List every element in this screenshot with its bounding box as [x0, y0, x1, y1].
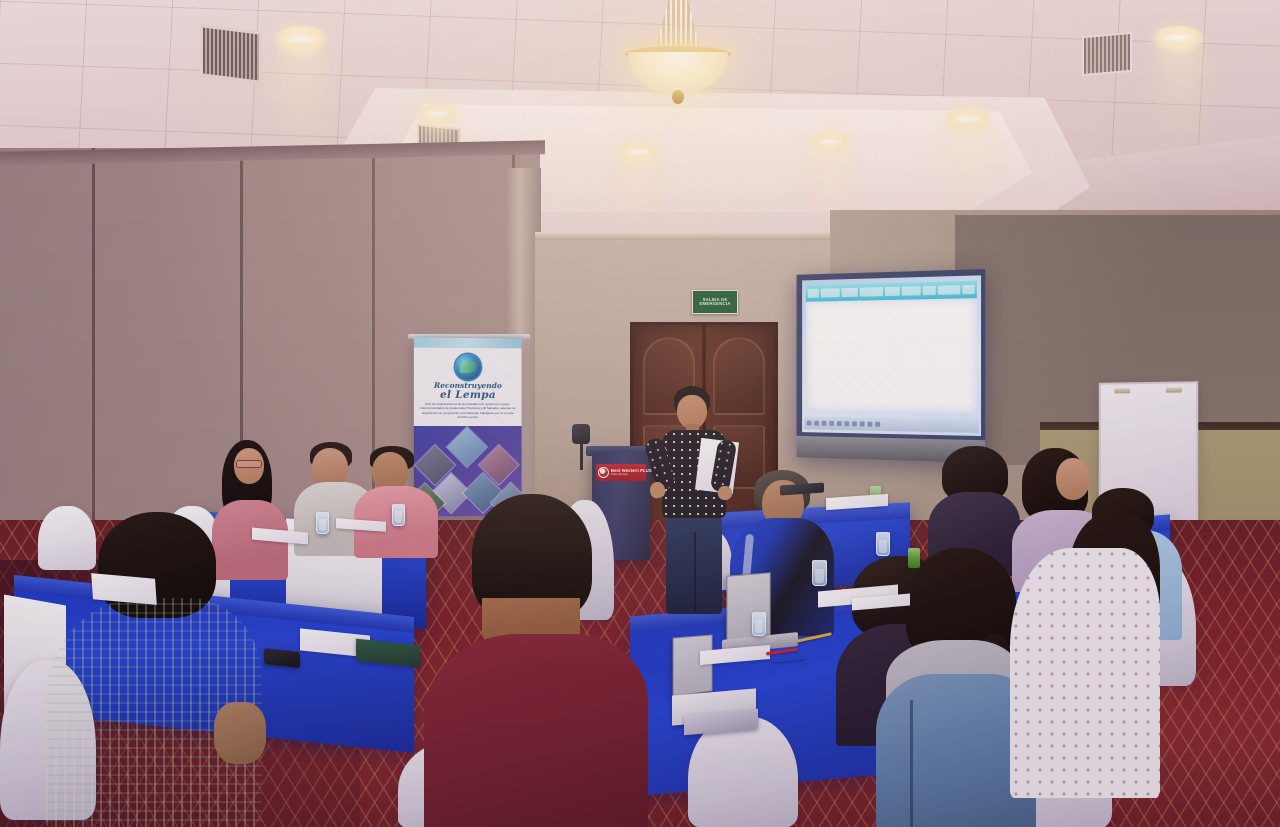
- best-western-sign: Best Western PLUS Hotel Terraza: [596, 464, 646, 481]
- projected-image: [802, 275, 981, 436]
- forearm: [214, 702, 266, 764]
- participant-man-pink-shirt: [358, 446, 434, 550]
- windows-taskbar-icon: [804, 417, 979, 433]
- best-western-crown-icon: [598, 467, 609, 478]
- water-glass: [752, 612, 766, 636]
- flipchart-clip-icon: [1166, 388, 1182, 393]
- chandelier-shaft: [655, 0, 701, 52]
- banner-subtitle: Red de organizaciones de la sociedad civ…: [420, 402, 516, 420]
- light-wash: [926, 120, 1012, 216]
- green-soda-can: [908, 548, 920, 568]
- air-vent-icon: [200, 24, 262, 84]
- projection-screen: [797, 269, 986, 463]
- laptop-screen[interactable]: [673, 634, 713, 696]
- denim-seam: [910, 700, 913, 827]
- globe-leaf-logo-icon: [455, 354, 481, 380]
- chandelier-finial: [672, 90, 684, 104]
- water-glass: [316, 512, 329, 534]
- air-vent-icon: [1082, 32, 1132, 76]
- water-glass: [392, 504, 405, 526]
- light-wash: [1134, 42, 1226, 152]
- participant-man-plaid-foreground: [46, 512, 262, 827]
- presenter-right-hand: [718, 486, 732, 500]
- crystal-chandelier: [618, 0, 738, 104]
- venue-property-name: Hotel Terraza: [611, 473, 652, 476]
- blank-document-page: [805, 298, 977, 414]
- water-glass: [876, 532, 890, 556]
- banner-title: Reconstruyendo el Lempa: [414, 382, 522, 403]
- light-wash: [600, 154, 678, 240]
- torso-polkadot-blouse: [1010, 548, 1160, 798]
- exit-sign-line-2: EMERGENCIA: [699, 302, 730, 307]
- presenter-jeans: [666, 514, 722, 614]
- emergency-exit-sign: SALIDA DE EMERGENCIA: [692, 290, 738, 314]
- water-glass: [812, 560, 827, 586]
- banner-title-line-2: el Lempa: [414, 390, 522, 402]
- microphone-icon: [572, 424, 590, 444]
- wall-cornice: [535, 232, 835, 240]
- participant-man-maroon-foreground: [424, 494, 648, 827]
- flipchart-clip-icon: [1114, 388, 1130, 393]
- participant-woman-polkadot-blouse: [1010, 520, 1160, 820]
- eyeglasses-icon: [236, 460, 262, 468]
- microphone-pole: [580, 442, 583, 470]
- conference-room-photo: SALIDA DE EMERGENCIA: [0, 0, 1280, 827]
- torso-maroon-shirt: [424, 634, 648, 827]
